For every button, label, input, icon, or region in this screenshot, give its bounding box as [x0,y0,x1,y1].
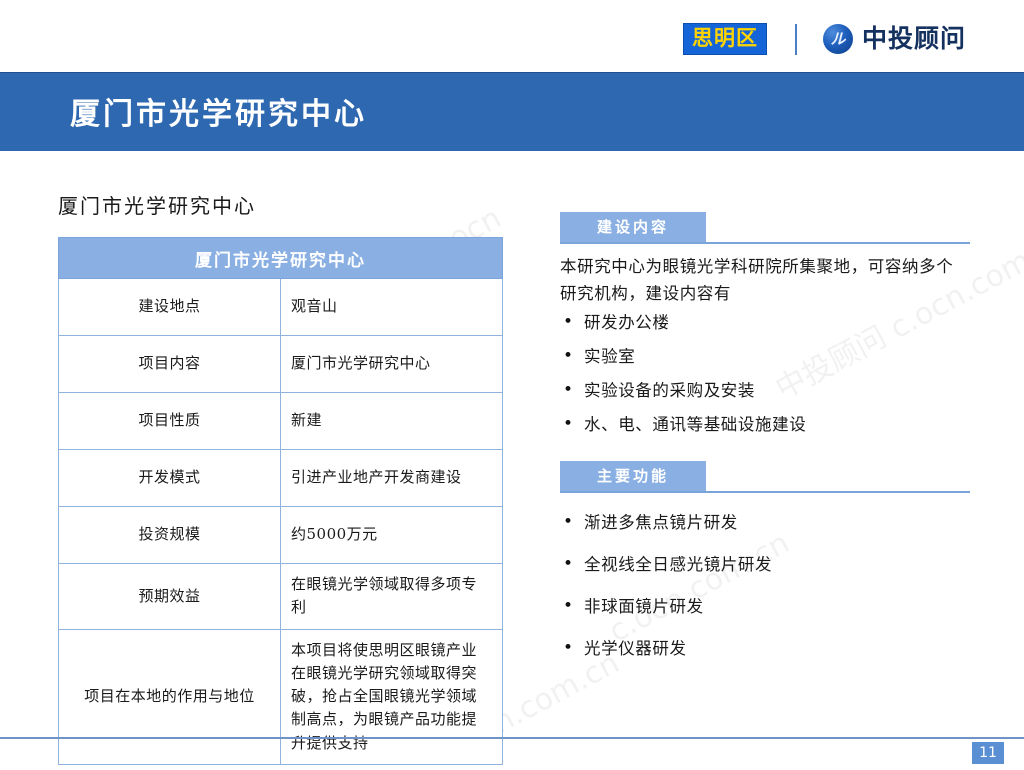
slide-content: 中投顾问 c.ocn.co c.ocn.com.cn 中投顾问 c.ocn c.… [0,150,1024,720]
list-item: 全视线全日感光镜片研发 [560,553,970,578]
logo-divider [795,24,797,55]
list-item: 实验设备的采购及安装 [560,379,970,404]
row-value: 在眼镜光学领域取得多项专利 [281,564,503,630]
panel-badge: 主要功能 [560,461,706,491]
top-logo-bar: 思明区 ル 中投顾问 [0,0,1024,70]
row-value: 厦门市光学研究中心 [281,336,503,393]
table-row: 预期效益 在眼镜光学领域取得多项专利 [59,564,503,630]
row-label: 预期效益 [59,564,281,630]
page-title: 厦门市光学研究中心 [70,89,367,133]
district-badge: 思明区 [683,23,767,55]
table-header-row: 厦门市光学研究中心 [59,238,503,279]
section-caption: 厦门市光学研究中心 [58,190,503,219]
panel-main-functions: 主要功能 渐进多焦点镜片研发 全视线全日感光镜片研发 非球面镜片研发 光学仪器研… [560,461,970,661]
list-item: 光学仪器研发 [560,637,970,662]
title-banner: 厦门市光学研究中心 [0,72,1024,151]
table-row: 项目内容 厦门市光学研究中心 [59,336,503,393]
row-value: 新建 [281,393,503,450]
left-column: 厦门市光学研究中心 厦门市光学研究中心 建设地点 观音山 项目内容 厦门市光学研… [58,190,503,765]
panel-header: 主要功能 [560,461,970,493]
row-value: 约5000万元 [281,507,503,564]
page-number-badge: 11 [972,742,1004,764]
table-row: 项目性质 新建 [59,393,503,450]
brand-logo: ル 中投顾问 [823,24,966,54]
list-item: 实验室 [560,345,970,370]
table-row: 建设地点 观音山 [59,279,503,336]
footer-divider [0,737,1024,739]
row-value: 观音山 [281,279,503,336]
panel-construction-content: 建设内容 本研究中心为眼镜光学科研院所集聚地，可容纳多个研究机构，建设内容有 研… [560,212,970,437]
row-label: 项目在本地的作用与地位 [59,629,281,764]
row-label: 项目内容 [59,336,281,393]
table-row: 投资规模 约5000万元 [59,507,503,564]
list-item: 非球面镜片研发 [560,595,970,620]
brand-mark-icon: ル [823,24,853,54]
row-label: 项目性质 [59,393,281,450]
row-label: 投资规模 [59,507,281,564]
panel-badge: 建设内容 [560,212,706,242]
list-item: 渐进多焦点镜片研发 [560,511,970,536]
project-info-table: 厦门市光学研究中心 建设地点 观音山 项目内容 厦门市光学研究中心 项目性质 新… [58,237,503,765]
list-item: 研发办公楼 [560,311,970,336]
brand-name: 中投顾问 [862,24,966,54]
panel-intro-text: 本研究中心为眼镜光学科研院所集聚地，可容纳多个研究机构，建设内容有 [560,254,970,307]
logo-group: 思明区 ル 中投顾问 [683,21,966,57]
table-row: 开发模式 引进产业地产开发商建设 [59,450,503,507]
bullet-list: 研发办公楼 实验室 实验设备的采购及安装 水、电、通讯等基础设施建设 [560,311,970,437]
bullet-list: 渐进多焦点镜片研发 全视线全日感光镜片研发 非球面镜片研发 光学仪器研发 [560,511,970,661]
list-item: 水、电、通讯等基础设施建设 [560,413,970,438]
row-value: 本项目将使思明区眼镜产业在眼镜光学研究领域取得突破，抢占全国眼镜光学领域制高点，… [281,629,503,764]
table-row: 项目在本地的作用与地位 本项目将使思明区眼镜产业在眼镜光学研究领域取得突破，抢占… [59,629,503,764]
panel-header: 建设内容 [560,212,970,244]
right-column: 建设内容 本研究中心为眼镜光学科研院所集聚地，可容纳多个研究机构，建设内容有 研… [560,212,970,679]
row-label: 开发模式 [59,450,281,507]
brand-mark-glyph: ル [823,24,853,54]
row-label: 建设地点 [59,279,281,336]
row-value: 引进产业地产开发商建设 [281,450,503,507]
table-title: 厦门市光学研究中心 [59,238,503,279]
